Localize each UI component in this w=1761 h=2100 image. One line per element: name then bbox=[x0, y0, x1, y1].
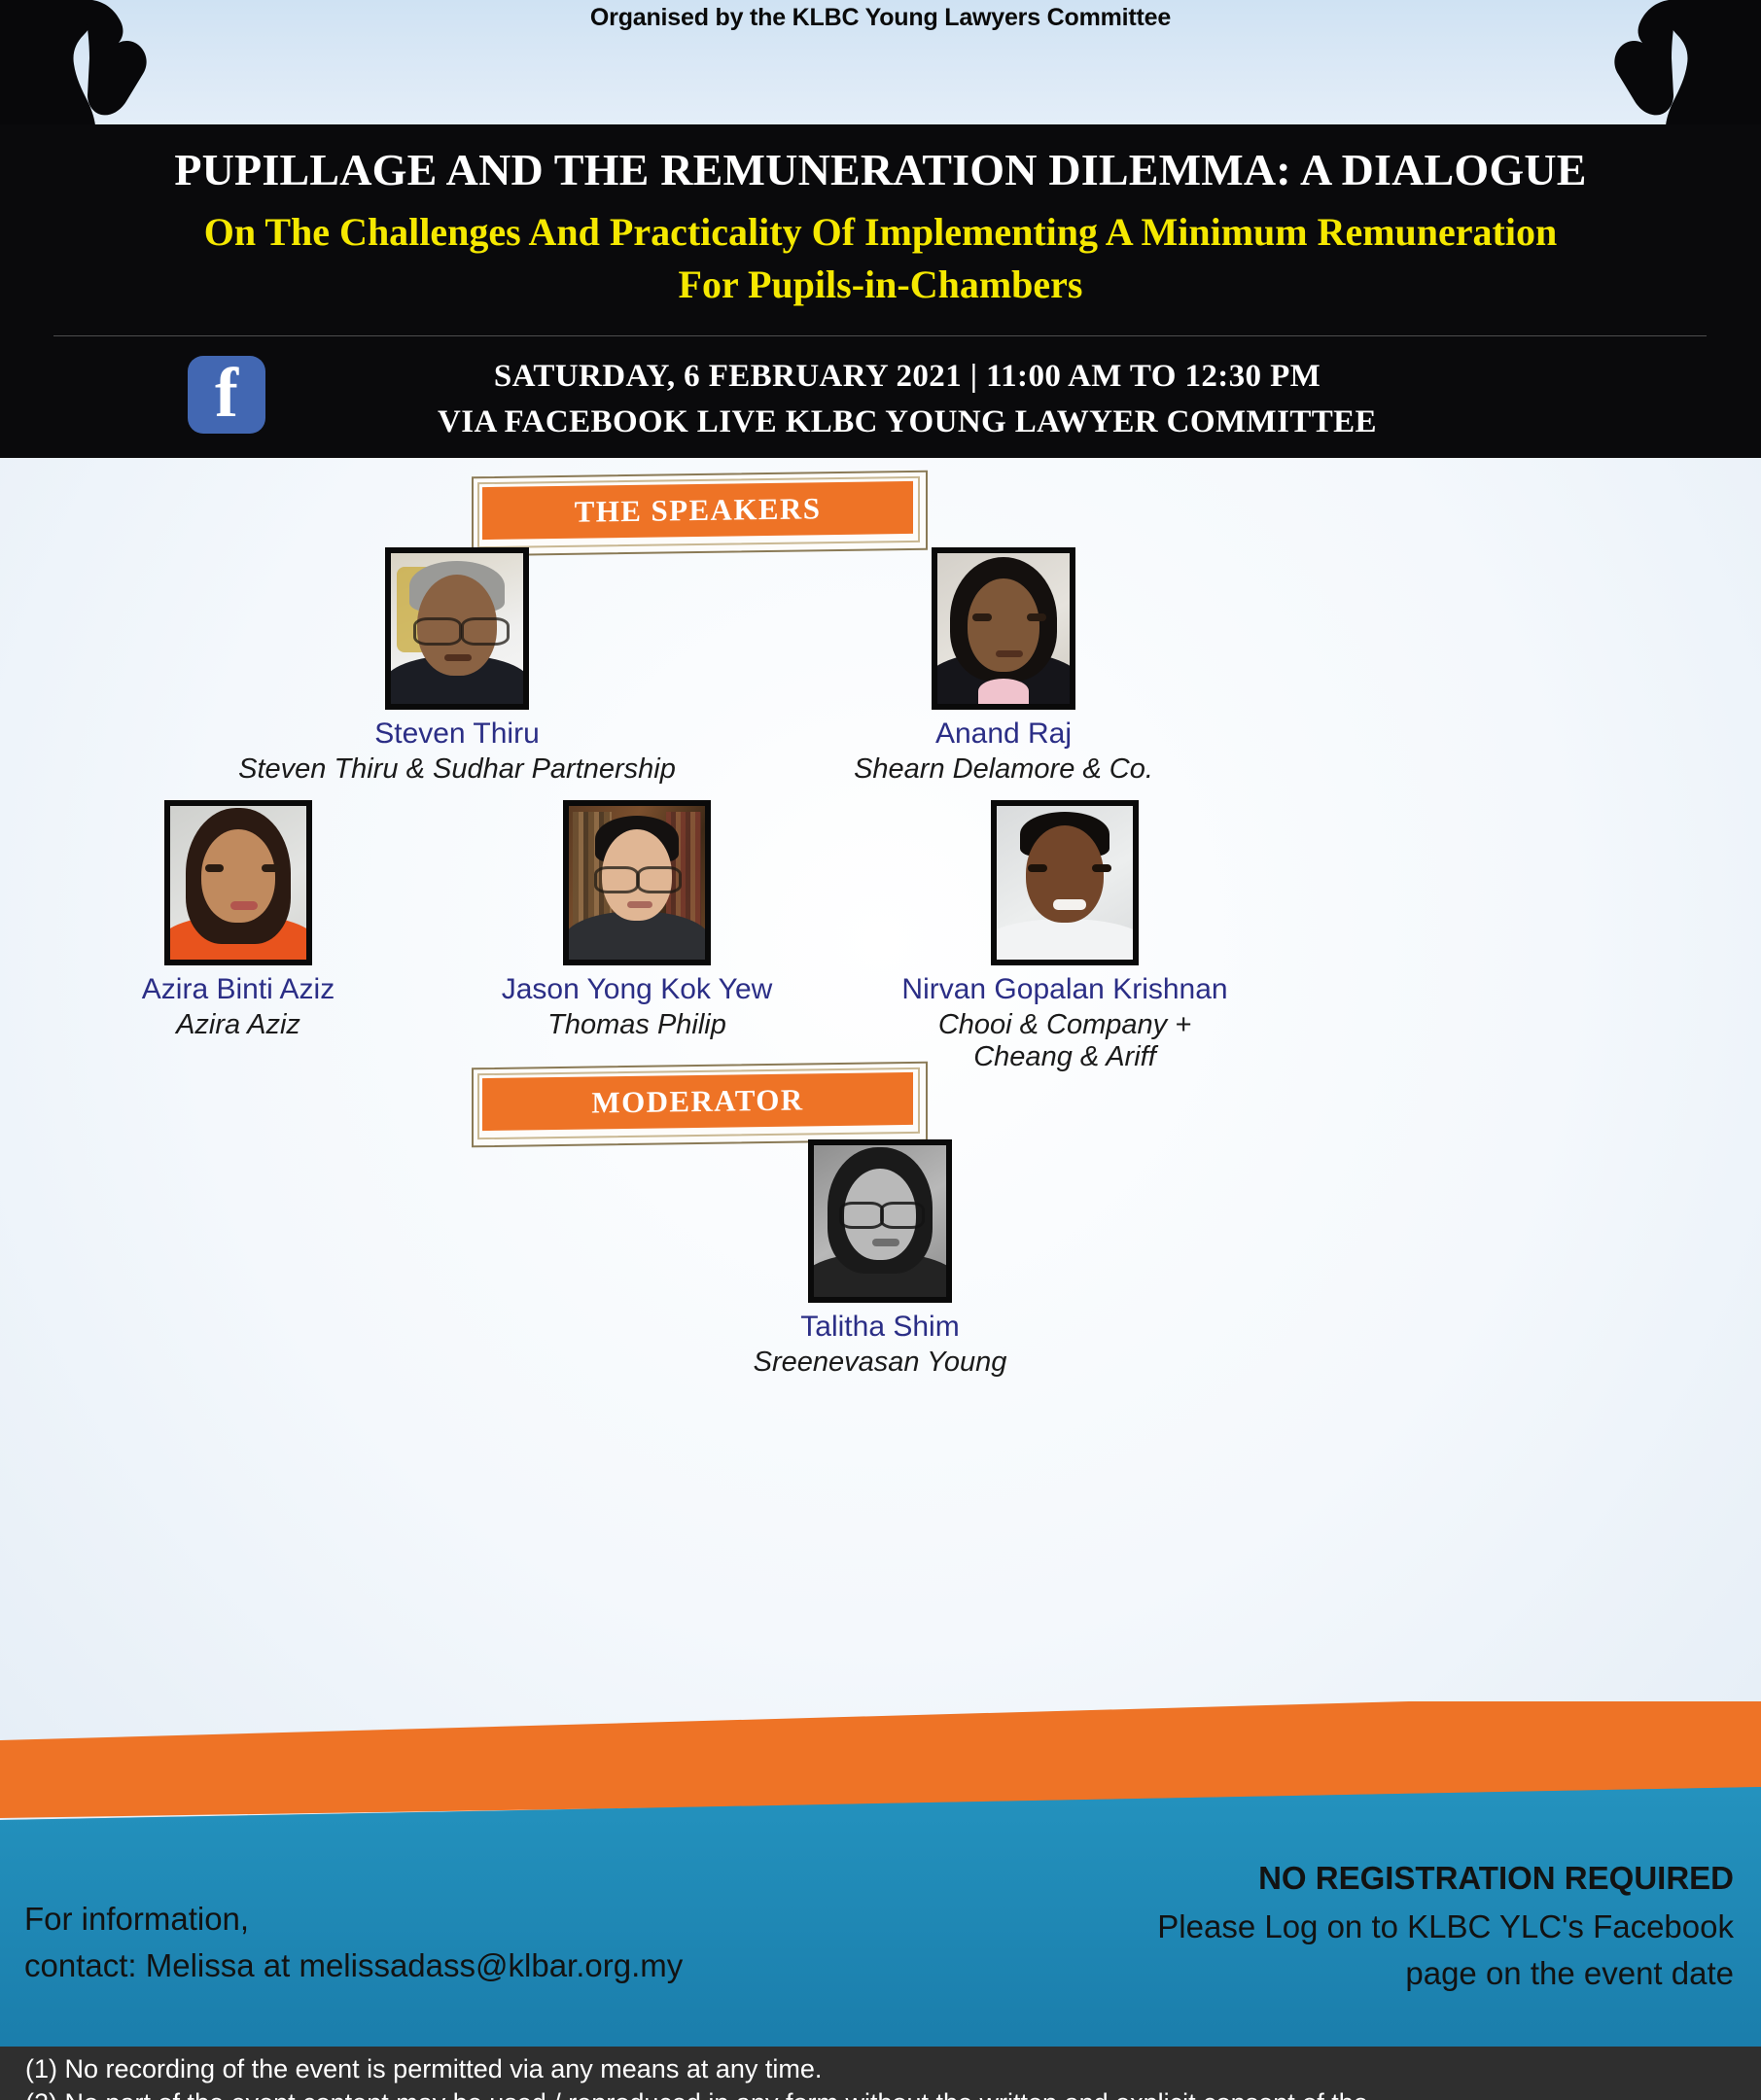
disclaimer-line-1: (1) No recording of the event is permitt… bbox=[25, 2052, 1761, 2086]
speaker-card: Jason Yong Kok Yew Thomas Philip bbox=[438, 800, 836, 1041]
speaker-card: Anand Raj Shearn Delamore & Co. bbox=[653, 547, 1354, 786]
facebook-instruction-line-2: page on the event date bbox=[1405, 1955, 1734, 1992]
event-date-time-line: SATURDAY, 6 FEBRUARY 2021 | 11:00 AM TO … bbox=[275, 354, 1539, 400]
title-divider bbox=[53, 335, 1707, 336]
avatar bbox=[932, 547, 1075, 710]
speaker-card: Nirvan Gopalan Krishnan Chooi & Company … bbox=[851, 800, 1279, 1074]
facebook-f-glyph: f bbox=[188, 356, 265, 434]
page-subtitle: On The Challenges And Practicality Of Im… bbox=[58, 206, 1703, 312]
avatar bbox=[164, 800, 312, 965]
speaker-name: Azira Binti Aziz bbox=[39, 973, 438, 1007]
page-title: PUPILLAGE AND THE REMUNERATION DILEMMA: … bbox=[0, 144, 1761, 195]
no-registration-notice: NO REGISTRATION REQUIRED bbox=[1258, 1860, 1734, 1897]
portrait-image bbox=[997, 806, 1133, 960]
speakers-badge-label: THE SPEAKERS bbox=[482, 481, 913, 540]
speaker-card: Azira Binti Aziz Azira Aziz bbox=[39, 800, 438, 1041]
portrait-image bbox=[391, 553, 523, 704]
speaker-name: Jason Yong Kok Yew bbox=[438, 973, 836, 1007]
speaker-firm: Azira Aziz bbox=[39, 1009, 438, 1042]
portrait-image bbox=[937, 553, 1070, 704]
moderator-badge-label: MODERATOR bbox=[482, 1072, 913, 1131]
event-platform-line: VIA FACEBOOK LIVE KLBC YOUNG LAWYER COMM… bbox=[275, 400, 1539, 445]
moderator-name: Talitha Shim bbox=[530, 1311, 1230, 1345]
facebook-instruction-line-1: Please Log on to KLBC YLC's Facebook bbox=[1157, 1908, 1734, 1945]
moderator-badge: MODERATOR bbox=[472, 1065, 924, 1140]
avatar bbox=[808, 1139, 952, 1303]
organiser-text: Organised by the KLBC Young Lawyers Comm… bbox=[0, 4, 1761, 32]
moderator-card: Talitha Shim Sreenevasan Young bbox=[530, 1139, 1230, 1379]
avatar bbox=[563, 800, 711, 965]
subtitle-line-2: For Pupils-in-Chambers bbox=[58, 259, 1703, 311]
event-datetime: SATURDAY, 6 FEBRUARY 2021 | 11:00 AM TO … bbox=[275, 354, 1539, 445]
disclaimer-line-2: (2) No part of the event content may be … bbox=[25, 2086, 1761, 2100]
speaker-firm: Shearn Delamore & Co. bbox=[653, 753, 1354, 787]
moderator-firm: Sreenevasan Young bbox=[530, 1347, 1230, 1380]
facebook-icon[interactable]: f bbox=[188, 356, 265, 434]
speaker-firm: Thomas Philip bbox=[438, 1009, 836, 1042]
contact-info-line-2: contact: Melissa at melissadass@klbar.or… bbox=[24, 1947, 683, 1984]
speaker-name: Anand Raj bbox=[653, 717, 1354, 752]
avatar bbox=[991, 800, 1139, 965]
portrait-image bbox=[569, 806, 705, 960]
portrait-image bbox=[814, 1145, 946, 1297]
contact-info-line-1: For information, bbox=[24, 1901, 249, 1938]
portrait-image bbox=[170, 806, 306, 960]
avatar bbox=[385, 547, 529, 710]
subtitle-line-1: On The Challenges And Practicality Of Im… bbox=[58, 206, 1703, 259]
footer-wave-graphic bbox=[0, 1701, 1761, 2100]
speaker-name: Nirvan Gopalan Krishnan bbox=[851, 973, 1279, 1007]
speakers-badge: THE SPEAKERS bbox=[472, 473, 924, 549]
event-poster: Organised by the KLBC Young Lawyers Comm… bbox=[0, 0, 1761, 2100]
disclaimer-bar: (1) No recording of the event is permitt… bbox=[0, 2047, 1761, 2100]
